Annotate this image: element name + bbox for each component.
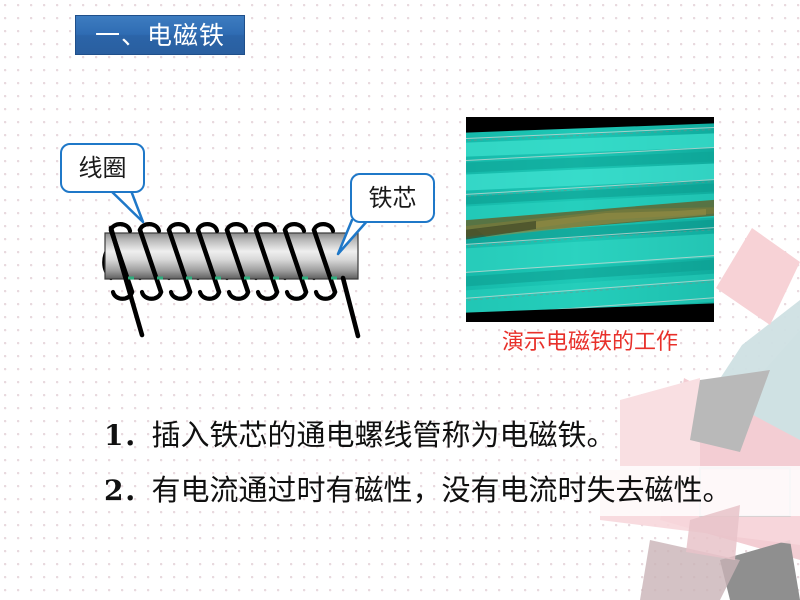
bullet-line-2: 2．有电流通过时有磁性，没有电流时失去磁性。 xyxy=(104,463,794,518)
video-caption: 演示电磁铁的工作 xyxy=(466,331,714,355)
bullet-line-1: 1．插入铁芯的通电螺线管称为电磁铁。 xyxy=(104,408,794,463)
callout-core[interactable]: 铁芯 xyxy=(350,173,435,223)
bullet-text-1: 插入铁芯的通电螺线管称为电磁铁。 xyxy=(151,418,615,452)
bullet-number-2: 2． xyxy=(104,474,151,507)
video-caption-label: 演示电磁铁的工作 xyxy=(502,330,678,355)
bullet-text-2: 有电流通过时有磁性，没有电流时失去磁性。 xyxy=(151,473,731,507)
page-title: 一、电磁铁 xyxy=(95,23,225,48)
callout-coil-label: 线圈 xyxy=(79,156,127,180)
body-text-block: 1．插入铁芯的通电螺线管称为电磁铁。 2．有电流通过时有磁性，没有电流时失去磁性… xyxy=(104,408,794,518)
bullet-number-1: 1． xyxy=(104,419,151,452)
video-thumbnail[interactable] xyxy=(466,117,714,322)
callout-coil[interactable]: 线圈 xyxy=(60,143,145,193)
slide-title-banner: 一、电磁铁 xyxy=(75,15,245,55)
slide-canvas: 一、电磁铁 xyxy=(0,0,800,600)
callout-core-label: 铁芯 xyxy=(369,186,417,210)
